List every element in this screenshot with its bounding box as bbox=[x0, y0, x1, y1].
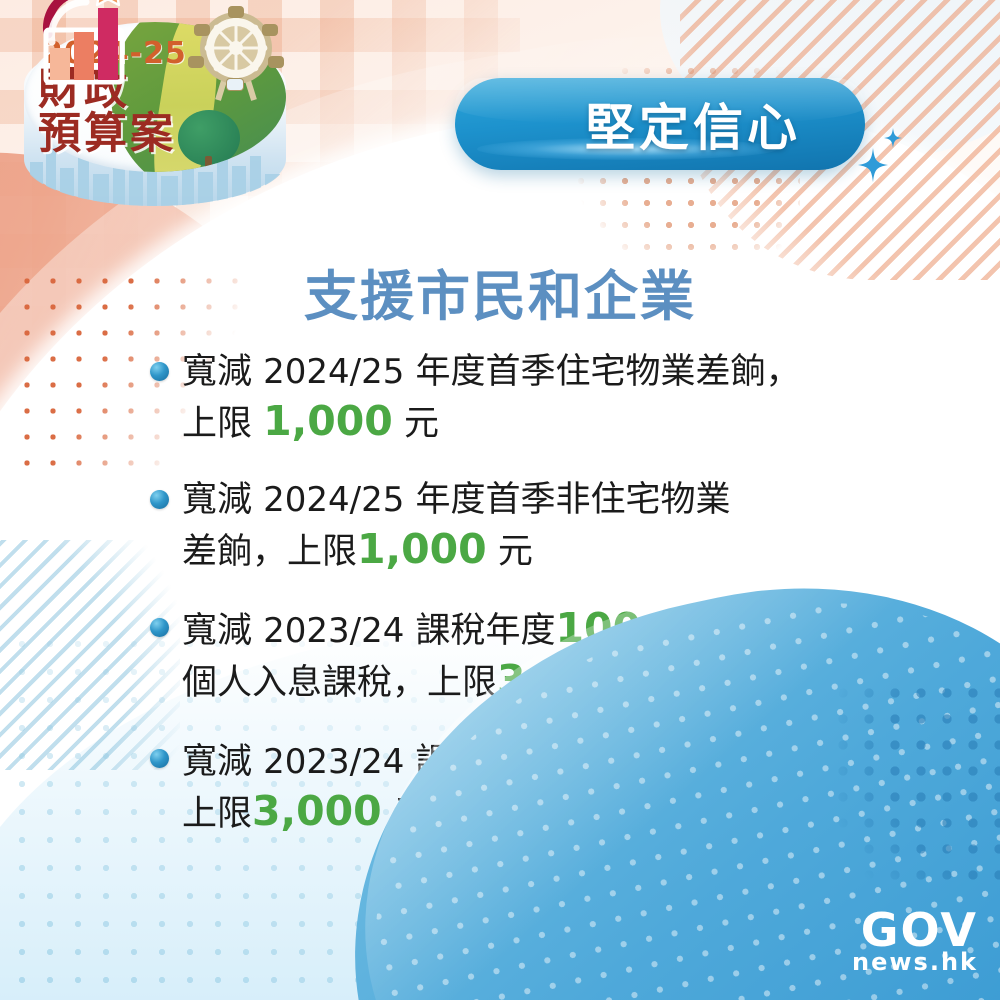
list-item-line: 上限 1,000 元 bbox=[182, 397, 940, 449]
text-run: 寬減 bbox=[182, 480, 263, 520]
list-item: 寬減 2024/25 年度首季住宅物業差餉， 上限 1,000 元 bbox=[150, 348, 940, 449]
amount-value: 3,000 bbox=[252, 787, 382, 835]
bullet-dot-icon bbox=[150, 749, 169, 768]
text-run: 寬減 bbox=[182, 742, 263, 782]
budget-infographic-poster: 2024-25 財政 預算案 堅定信心 bbox=[0, 0, 1000, 1000]
page-title: 支援市民和企業 bbox=[0, 252, 1000, 331]
text-run: 元 bbox=[487, 532, 533, 572]
list-item-line: 差餉，上限1,000 元 bbox=[182, 525, 940, 577]
amount-value: 1,000 bbox=[357, 525, 487, 573]
text-run: 年度首季非住宅物業 bbox=[404, 480, 730, 520]
bullet-dot-icon bbox=[150, 362, 169, 381]
text-run: 2023/24 bbox=[263, 742, 404, 782]
logo-title-line2: 預算案 bbox=[38, 112, 228, 156]
logo-tree-trunk bbox=[205, 156, 212, 172]
sparkle-icon-large bbox=[858, 148, 888, 182]
text-run: 年度首季住宅物業差餉， bbox=[404, 352, 800, 392]
text-run: 2023/24 bbox=[263, 611, 404, 651]
bar-chart-growth-icon bbox=[30, 0, 142, 90]
text-run: 2024/25 bbox=[263, 352, 404, 392]
bullet-dot-icon bbox=[150, 490, 169, 509]
text-run: 上限 bbox=[182, 404, 263, 444]
text-run: 2024/25 bbox=[263, 480, 404, 520]
list-item-line: 寬減 2024/25 年度首季住宅物業差餉， bbox=[182, 348, 940, 397]
text-run: 上限 bbox=[182, 794, 252, 834]
sparkle-icon-small bbox=[884, 128, 902, 148]
list-item-line: 寬減 2024/25 年度首季非住宅物業 bbox=[182, 476, 940, 525]
text-run: 個人入息課稅，上限 bbox=[182, 663, 497, 703]
gov-news-logo[interactable]: GOV news.hk bbox=[852, 910, 978, 974]
bullet-dot-icon bbox=[150, 618, 169, 637]
text-run: 寬減 bbox=[182, 352, 263, 392]
list-item: 寬減 2024/25 年度首季非住宅物業 差餉，上限1,000 元 bbox=[150, 476, 940, 577]
gov-logo-sub: news.hk bbox=[852, 950, 978, 974]
amount-value: 1,000 bbox=[263, 397, 393, 445]
text-run: 差餉，上限 bbox=[182, 532, 357, 572]
gov-logo-main: GOV bbox=[852, 910, 978, 950]
theme-banner: 堅定信心 bbox=[455, 78, 865, 170]
text-run: 寬減 bbox=[182, 611, 263, 651]
bottom-right-dark-dots bbox=[830, 680, 1000, 880]
text-run: 元 bbox=[393, 404, 439, 444]
banner-title: 堅定信心 bbox=[585, 88, 801, 160]
text-run: 課稅年度 bbox=[404, 611, 555, 651]
